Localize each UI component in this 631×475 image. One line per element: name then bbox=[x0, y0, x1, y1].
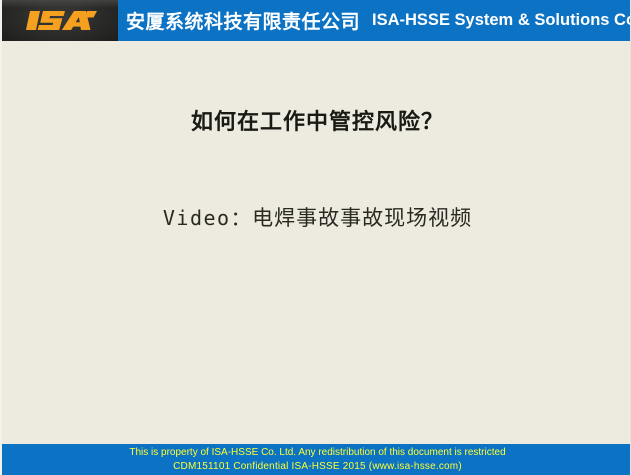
footer-document-line: CDM151101 Confidential ISA-HSSE 2015 (ww… bbox=[173, 460, 462, 474]
page-title: 如何在工作中管控风险？ bbox=[2, 104, 631, 136]
slide-body: 如何在工作中管控风险？ Video：电焊事故事故现场视频 bbox=[2, 41, 631, 444]
header-title-group: 安厦系统科技有限责任公司 ISA-HSSE System & Solutions… bbox=[118, 0, 631, 41]
company-name-cn: 安厦系统科技有限责任公司 bbox=[126, 7, 360, 34]
company-name-en: ISA-HSSE System & Solutions Co. LTD bbox=[372, 11, 631, 30]
slide-header-bar: 安厦系统科技有限责任公司 ISA-HSSE System & Solutions… bbox=[2, 0, 631, 41]
video-reference: Video：电焊事故事故现场视频 bbox=[2, 202, 631, 232]
logo-panel bbox=[2, 0, 118, 41]
footer-copyright-line: This is property of ISA-HSSE Co. Ltd. An… bbox=[129, 446, 505, 460]
video-title: 电焊事故事故现场视频 bbox=[252, 206, 472, 230]
presentation-slide: 安厦系统科技有限责任公司 ISA-HSSE System & Solutions… bbox=[0, 0, 631, 475]
isa-logo-icon bbox=[26, 8, 98, 33]
slide-footer-bar: This is property of ISA-HSSE Co. Ltd. An… bbox=[2, 444, 631, 475]
video-label: Video： bbox=[163, 206, 252, 230]
